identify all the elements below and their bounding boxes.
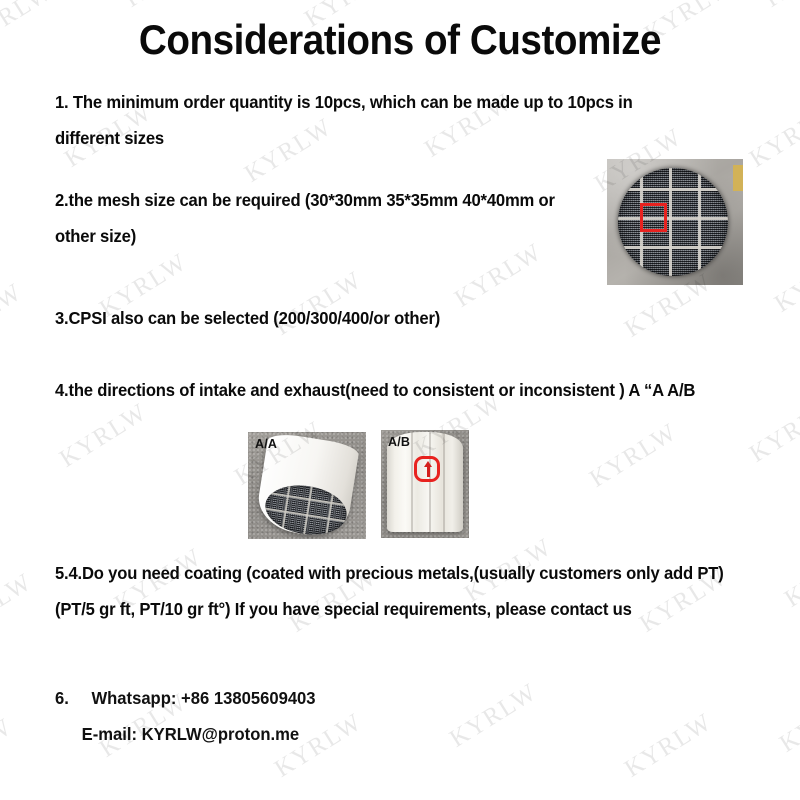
- watermark-text: KYRLW: [770, 243, 800, 318]
- surface-streak: [429, 432, 431, 532]
- mesh-highlight-box: [640, 203, 667, 232]
- watermark-text: KYRLW: [0, 713, 17, 788]
- photo-direction-aa: A/A: [248, 432, 366, 539]
- contact-whatsapp-line: 6. Whatsapp: +86 13805609403: [55, 680, 316, 716]
- watermark-text: KYRLW: [445, 678, 542, 753]
- spec-item-3: 3.CPSI also can be selected (200/300/400…: [55, 300, 720, 336]
- watermark-text: KYRLW: [745, 393, 800, 468]
- watermark-text: KYRLW: [470, 0, 567, 4]
- watermark-text: KYRLW: [620, 708, 717, 783]
- watermark-text: KYRLW: [0, 128, 7, 203]
- contact-email[interactable]: E-mail: KYRLW@proton.me: [82, 716, 300, 752]
- contact-item-number: 6.: [55, 688, 69, 708]
- product-spec-page: KYRLW KYRLW KYRLW KYRLW KYRLW KYRLW KYRL…: [0, 0, 800, 800]
- watermark-text: KYRLW: [0, 278, 27, 353]
- watermark-text: KYRLW: [120, 0, 217, 14]
- surface-streak: [411, 432, 413, 532]
- spec-item-4: 4.the directions of intake and exhaust(n…: [55, 372, 739, 408]
- watermark-text: KYRLW: [585, 418, 682, 493]
- flow-arrow-icon: [427, 466, 430, 477]
- photo-direction-ab: A/B: [381, 430, 469, 538]
- watermark-text: KYRLW: [780, 538, 800, 613]
- contact-block: 6. Whatsapp: +86 13805609403 E-mail: KYR…: [55, 680, 316, 752]
- page-title: Considerations of Customize: [32, 16, 768, 64]
- photo-tape-marker: [733, 165, 743, 191]
- spec-item-1: 1. The minimum order quantity is 10pcs, …: [55, 84, 663, 156]
- watermark-text: KYRLW: [745, 98, 800, 173]
- surface-streak: [443, 432, 445, 532]
- contact-whatsapp[interactable]: Whatsapp: +86 13805609403: [91, 688, 315, 708]
- contact-email-line: E-mail: KYRLW@proton.me: [55, 716, 316, 752]
- watermark-text: KYRLW: [0, 568, 37, 643]
- spec-item-5: 5.4.Do you need coating (coated with pre…: [55, 555, 744, 627]
- watermark-text: KYRLW: [775, 683, 800, 758]
- watermark-text: KYRLW: [760, 0, 800, 14]
- spec-item-2: 2.the mesh size can be required (30*30mm…: [55, 182, 568, 254]
- mesh-gridlines: [618, 168, 728, 276]
- photo-label-aa: A/A: [255, 437, 277, 451]
- photo-honeycomb-mesh: [607, 159, 743, 285]
- photo-label-ab: A/B: [388, 435, 410, 449]
- watermark-text: KYRLW: [55, 398, 152, 473]
